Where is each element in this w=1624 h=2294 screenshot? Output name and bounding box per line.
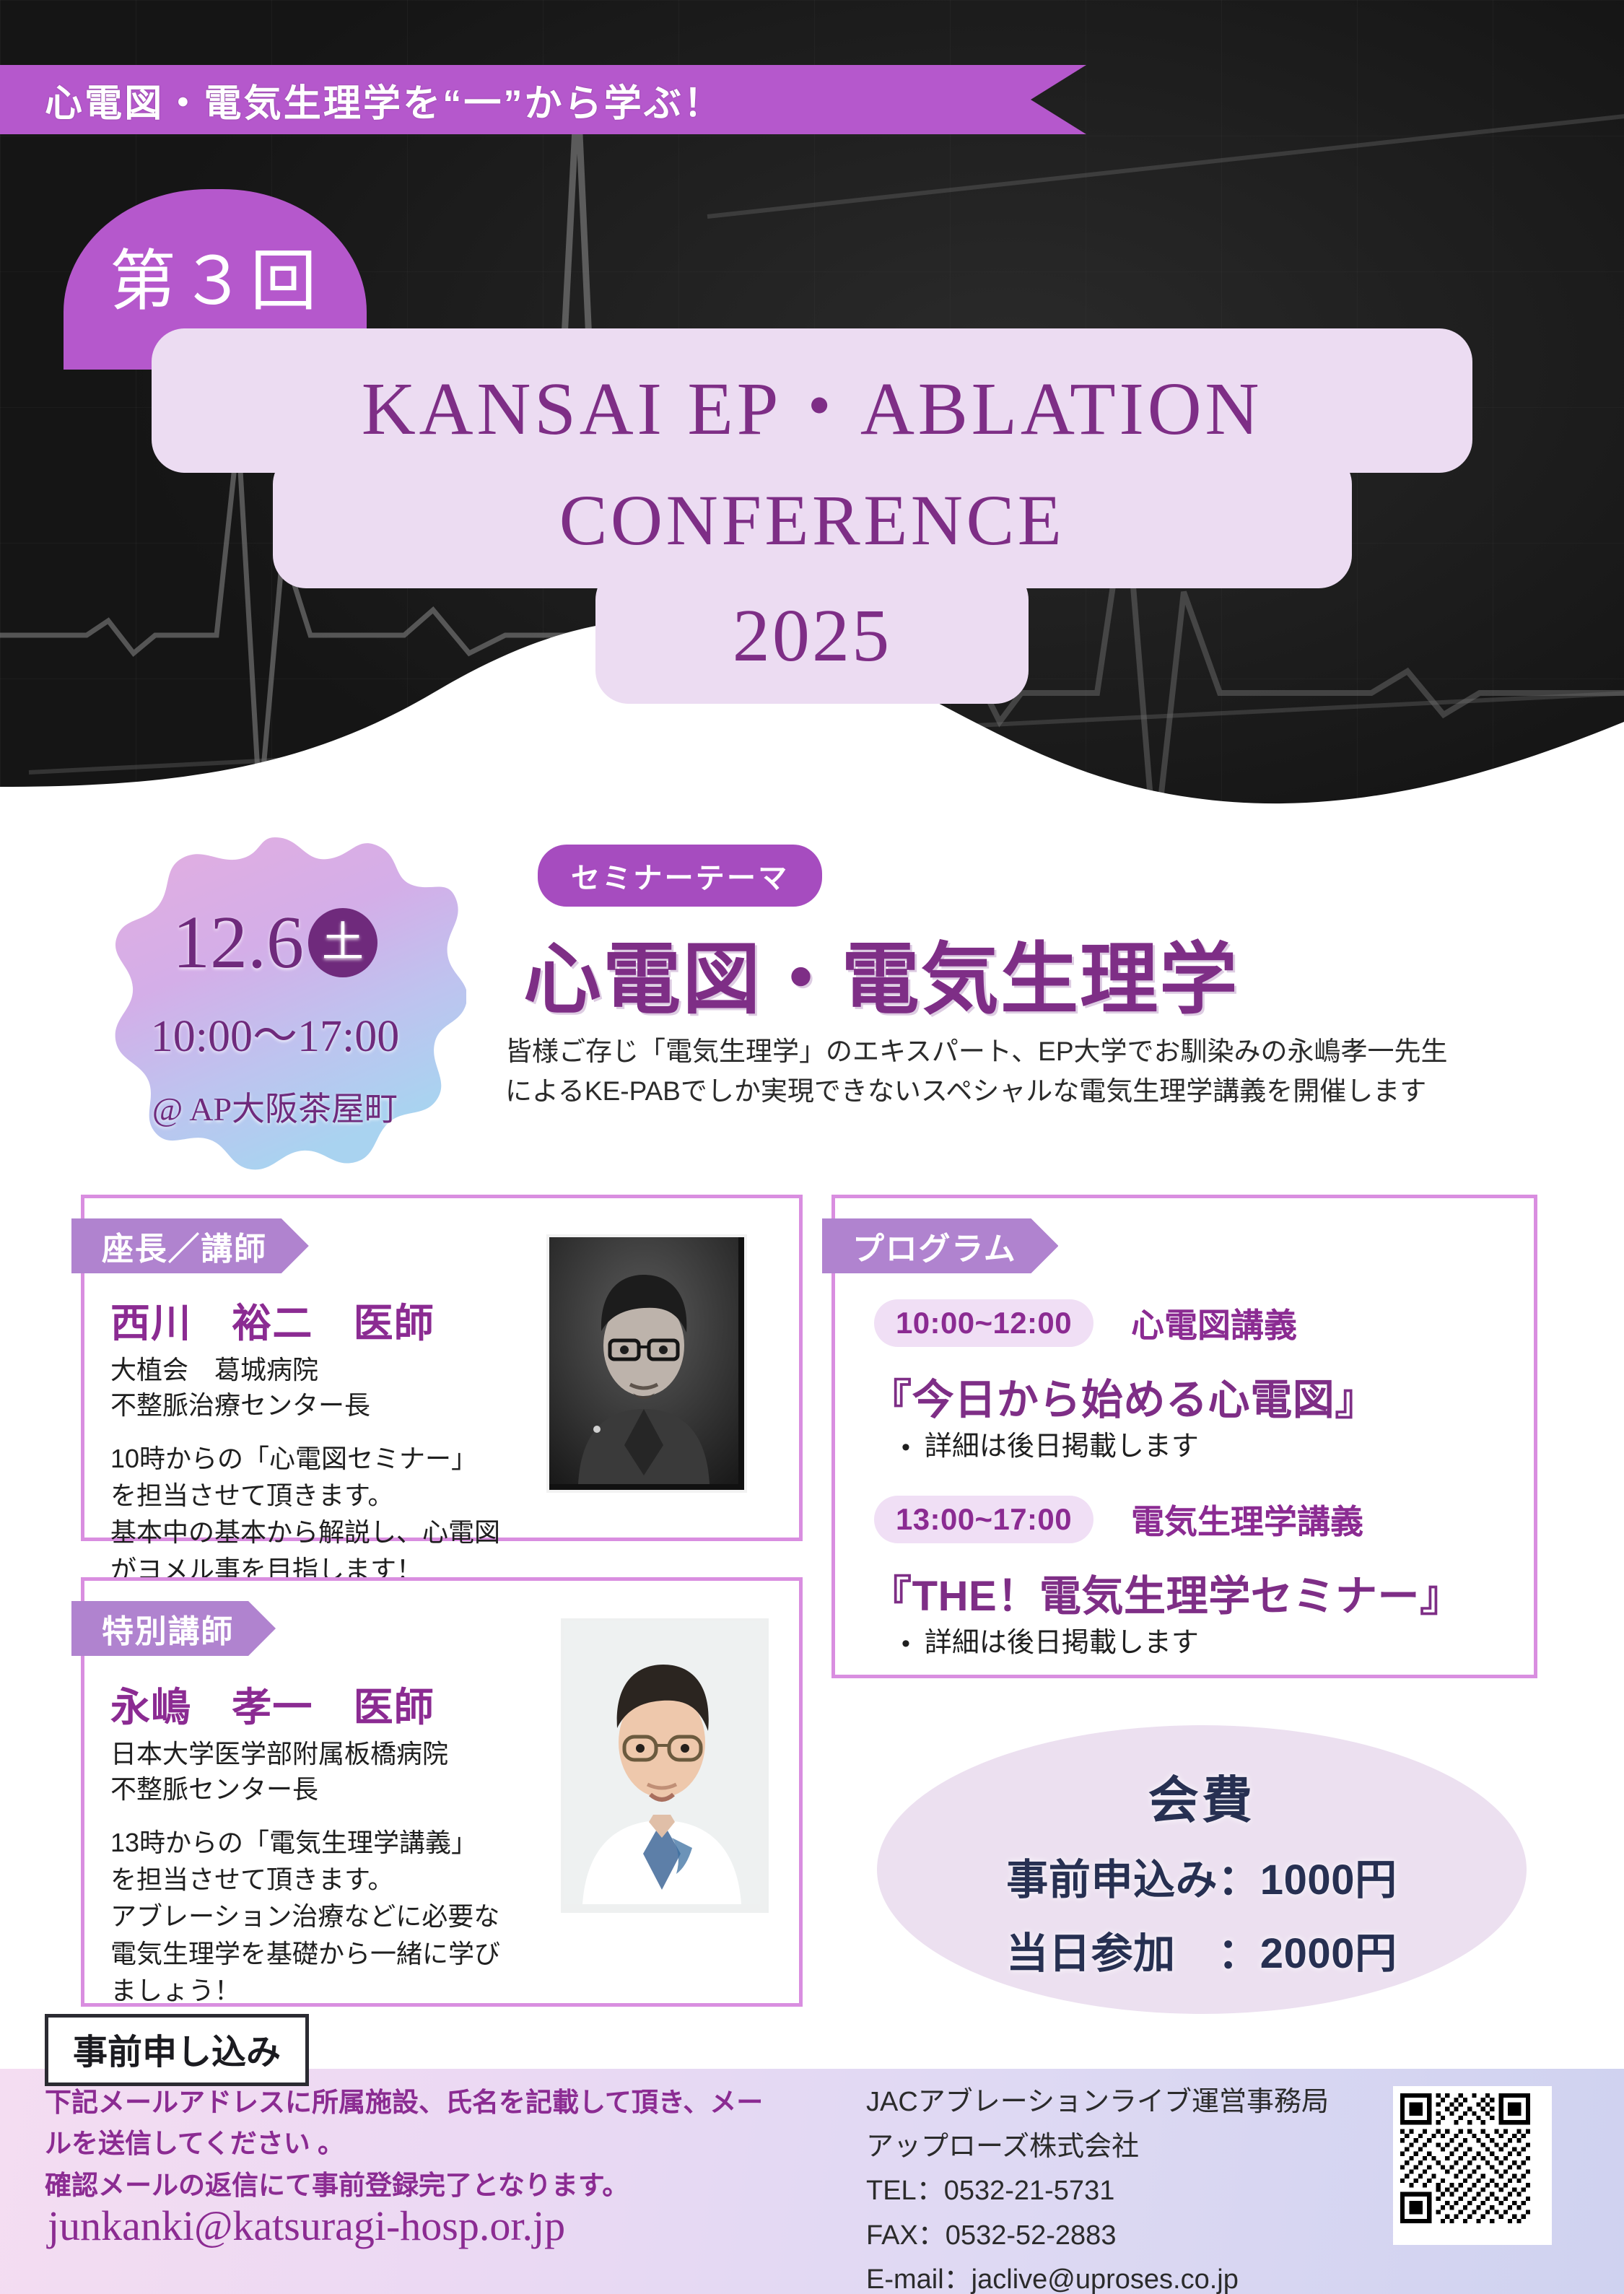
program-bullet-1: • 詳細は後日掲載します — [902, 1423, 1199, 1463]
speaker-info-chair: 西川 裕二 医師 大植会 葛城病院 不整脈治療センター長 10時からの「心電図セ… — [110, 1291, 529, 1588]
speaker-tab-special-label: 特別講師 — [102, 1605, 234, 1652]
speaker-affiliation-chair: 大植会 葛城病院 不整脈治療センター長 — [110, 1353, 529, 1423]
title-line-3: 2025 — [595, 567, 1029, 704]
event-date: 12.6 土 — [173, 905, 377, 980]
speaker-affiliation-special-line1: 日本大学医学部附属板橋病院 — [110, 1737, 558, 1772]
poster-root: 心電図・電気生理学を“一”から学ぶ！ 第３回 KANSAI EP・ABLATIO… — [0, 0, 1624, 2294]
application-body-line1: 下記メールアドレスに所属施設、氏名を記載して頂き、メー — [45, 2082, 839, 2123]
contact-email[interactable]: E-mail：jaclive@uproses.co.jp — [866, 2258, 1329, 2294]
fee-advance: 事前申込み：1000円 — [1006, 1846, 1397, 1906]
program-bullet-2: • 詳細は後日掲載します — [902, 1620, 1199, 1660]
speaker-message-special-line2: を担当させて頂きます。 — [110, 1861, 558, 1898]
date-blob: 12.6 土 10:00〜17:00 @ AP大阪茶屋町 — [84, 830, 466, 1205]
seminar-description: 皆様ご存じ「電気生理学」のエキスパート、EP大学でお馴染みの永嶋孝一先生 による… — [505, 1032, 1573, 1112]
program-tab: プログラム — [822, 1218, 1058, 1273]
contact-block: JACアブレーションライブ運営事務局 アップローズ株式会社 TEL：0532-2… — [866, 2080, 1329, 2294]
speaker-affiliation-special-line2: 不整脈センター長 — [110, 1772, 558, 1807]
qr-code-icon — [1400, 2093, 1530, 2223]
edition-badge-label: 第３回 — [110, 227, 321, 323]
contact-org-line1: JACアブレーションライブ運営事務局 — [866, 2080, 1329, 2125]
speaker-info-special: 永嶋 孝一 医師 日本大学医学部附属板橋病院 不整脈センター長 13時からの「電… — [110, 1675, 558, 2009]
speaker-message-chair-line2: を担当させて頂きます。 — [110, 1477, 529, 1514]
speaker-message-special-line4: 電気生理学を基礎から一緒に学び — [110, 1935, 558, 1972]
program-bullet-1-text: 詳細は後日掲載します — [925, 1423, 1199, 1463]
program-title-1: 『今日から始める心電図』 — [870, 1366, 1377, 1426]
application-body: 下記メールアドレスに所属施設、氏名を記載して頂き、メー ルを送信してください 。… — [45, 2082, 839, 2206]
program-bullet-2-text: 詳細は後日掲載します — [925, 1620, 1199, 1660]
contact-org-line2: アップローズ株式会社 — [866, 2125, 1329, 2170]
speaker-message-special-line5: ましょう！ — [110, 1972, 558, 2009]
fee-section: 会費 事前申込み：1000円 当日参加 ：2000円 — [877, 1725, 1527, 2014]
bullet-dot-icon: • — [902, 1630, 910, 1658]
portrait-special-illustration — [564, 1621, 760, 1904]
fee-onsite: 当日参加 ：2000円 — [1006, 1919, 1397, 1980]
speaker-message-special: 13時からの「電気生理学講義」 を担当させて頂きます。 アブレーション治療などに… — [110, 1824, 558, 2009]
top-banner-text: 心電図・電気生理学を“一”から学ぶ！ — [45, 73, 723, 127]
program-row-2: 13:00~17:00 電気生理学講義 — [874, 1496, 1363, 1543]
contact-fax: FAX：0532-52-2883 — [866, 2214, 1329, 2259]
top-banner: 心電図・電気生理学を“一”から学ぶ！ — [0, 65, 1086, 134]
speaker-message-special-line3: アブレーション治療などに必要な — [110, 1898, 558, 1935]
speaker-message-chair-line1: 10時からの「心電図セミナー」 — [110, 1440, 529, 1477]
qr-code[interactable] — [1393, 2086, 1552, 2245]
date-blob-content: 12.6 土 10:00〜17:00 @ AP大阪茶屋町 — [84, 830, 466, 1205]
application-heading-box: 事前申し込み — [45, 2014, 309, 2086]
speaker-message-chair-line3: 基本中の基本から解説し、心電図 — [110, 1514, 529, 1551]
portrait-chair-illustration — [549, 1237, 738, 1484]
program-kind-1: 心電図講義 — [1131, 1299, 1297, 1347]
speaker-photo-chair — [546, 1234, 747, 1493]
speaker-message-chair: 10時からの「心電図セミナー」 を担当させて頂きます。 基本中の基本から解説し、… — [110, 1440, 529, 1587]
speaker-name-special: 永嶋 孝一 医師 — [110, 1675, 558, 1732]
speaker-name-chair: 西川 裕二 医師 — [110, 1291, 529, 1348]
program-time-2: 13:00~17:00 — [874, 1496, 1093, 1543]
speaker-affiliation-chair-line1: 大植会 葛城病院 — [110, 1353, 529, 1388]
event-date-number: 12.6 — [173, 905, 304, 980]
program-title-2: 『THE！電気生理学セミナー』 — [870, 1562, 1462, 1623]
program-row-1: 10:00~12:00 心電図講義 — [874, 1299, 1297, 1347]
program-tab-label: プログラム — [852, 1223, 1016, 1269]
speaker-panel-chair: 座長／講師 西川 裕二 医師 大植会 葛城病院 不整脈治療センター長 10時から… — [81, 1195, 803, 1541]
speaker-affiliation-special: 日本大学医学部附属板橋病院 不整脈センター長 — [110, 1737, 558, 1807]
speaker-photo-special — [561, 1618, 769, 1913]
program-panel: プログラム 10:00~12:00 心電図講義 『今日から始める心電図』 • 詳… — [831, 1195, 1537, 1678]
application-body-line3: 確認メールの返信にて事前登録完了となります。 — [45, 2165, 839, 2206]
fee-heading: 会費 — [1148, 1760, 1255, 1833]
contact-tel: TEL：0532-21-5731 — [866, 2169, 1329, 2214]
application-body-line2: ルを送信してください 。 — [45, 2123, 839, 2164]
bullet-dot-icon: • — [902, 1434, 910, 1462]
application-email[interactable]: junkanki@katsuragi-hosp.or.jp — [48, 2202, 565, 2250]
speaker-tab-chair: 座長／講師 — [71, 1218, 309, 1273]
speaker-panel-special: 特別講師 永嶋 孝一 医師 日本大学医学部附属板橋病院 不整脈センター長 13時… — [81, 1577, 803, 2007]
seminar-theme-title: 心電図・電気生理学 — [523, 917, 1239, 1029]
speaker-tab-special: 特別講師 — [71, 1601, 276, 1656]
speaker-message-special-line1: 13時からの「電気生理学講義」 — [110, 1824, 558, 1861]
program-kind-2: 電気生理学講義 — [1131, 1496, 1363, 1543]
program-time-1: 10:00~12:00 — [874, 1299, 1093, 1347]
event-venue: @ AP大阪茶屋町 — [152, 1083, 398, 1130]
speaker-tab-chair-label: 座長／講師 — [102, 1223, 267, 1269]
application-heading: 事前申し込み — [73, 2033, 281, 2072]
seminar-theme-pill: セミナーテーマ — [538, 845, 822, 907]
speaker-affiliation-chair-line2: 不整脈治療センター長 — [110, 1388, 529, 1423]
seminar-description-line-1: 皆様ご存じ「電気生理学」のエキスパート、EP大学でお馴染みの永嶋孝一先生 — [505, 1032, 1573, 1072]
event-day-of-week: 土 — [308, 908, 377, 977]
event-time: 10:00〜17:00 — [151, 999, 399, 1064]
seminar-description-line-2: によるKE-PABでしか実現できないスペシャルな電気生理学講義を開催します — [505, 1072, 1573, 1112]
conference-title: KANSAI EP・ABLATION CONFERENCE 2025 — [0, 328, 1624, 704]
